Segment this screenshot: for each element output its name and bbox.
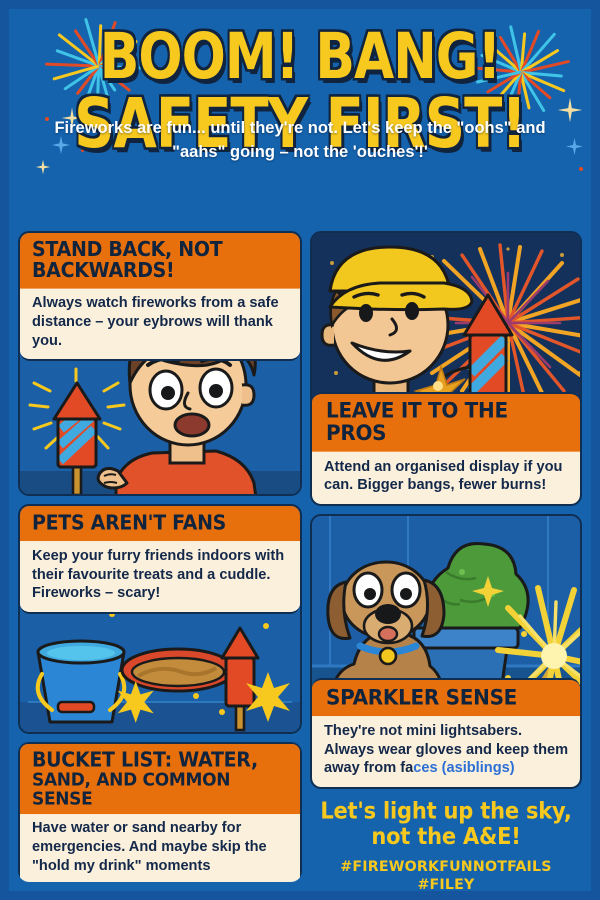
panel-grid: STAND BACK, NOT BACKWARDS! Always watch … xyxy=(18,231,582,882)
panel-pets-caption: PETS AREN'T FANS Keep your furry friends… xyxy=(20,506,300,614)
panel-stand-back-heading: STAND BACK, NOT BACKWARDS! xyxy=(20,233,300,289)
poster-subtitle: Fireworks are fun... until they're not. … xyxy=(9,117,591,165)
panel-stand-back-caption: STAND BACK, NOT BACKWARDS! Always watch … xyxy=(20,233,300,361)
footer-hashtags-line2: GOESBOOMSAFELY #SPARKLESMART xyxy=(310,894,582,900)
footer-hashtags: #FIREWORKFUNNOTFAILS #FILEY GOESBOOMSAFE… xyxy=(310,859,582,900)
panel-stand-back[interactable]: STAND BACK, NOT BACKWARDS! Always watch … xyxy=(18,231,302,496)
left-column: STAND BACK, NOT BACKWARDS! Always watch … xyxy=(18,231,302,882)
footer-hashtags-line1: #FIREWORKFUNNOTFAILS #FILEY xyxy=(310,859,582,894)
poster-footer: Let's light up the sky, not the A&E! #FI… xyxy=(310,797,582,882)
panel-bucket-list-heading: BUCKET LIST: WATER, SAND, AND COMMON SEN… xyxy=(20,742,300,814)
panel-bucket-list-body: Have water or sand nearby for emergencie… xyxy=(20,812,300,882)
footer-slogan-line2: not the A&E! xyxy=(320,824,571,849)
panel-bucket-list-heading-line1: BUCKET LIST: WATER, xyxy=(32,749,290,770)
sparkler-body-part2: ces (asiblings) xyxy=(413,760,514,776)
panel-leave-to-pros[interactable]: LEAVE IT TO THE PROS Attend an organised… xyxy=(310,231,582,506)
right-column: LEAVE IT TO THE PROS Attend an organised… xyxy=(310,231,582,882)
panel-sparkler-sense-caption: SPARKLER SENSE They're not mini lightsab… xyxy=(312,678,580,787)
footer-slogan-line1: Let's light up the sky, xyxy=(320,798,571,823)
panel-sparkler-sense-body: They're not mini lightsabers. Always wea… xyxy=(312,715,580,787)
panel-sparkler-sense[interactable]: SPARKLER SENSE They're not mini lightsab… xyxy=(310,514,582,789)
poster-header: BOOM! BANG! SAFETY FIRST! Fireworks are … xyxy=(9,9,591,169)
poster-root: BOOM! BANG! SAFETY FIRST! Fireworks are … xyxy=(0,0,600,900)
panel-stand-back-body: Always watch fireworks from a safe dista… xyxy=(20,287,300,359)
footer-slogan: Let's light up the sky, not the A&E! xyxy=(320,798,571,849)
panel-pets-heading: PETS AREN'T FANS xyxy=(20,506,300,541)
sparkle-dot-icon xyxy=(579,167,583,171)
panel-leave-to-pros-body: Attend an organised display if you can. … xyxy=(312,451,580,504)
panel-pets-body: Keep your furry friends indoors with the… xyxy=(20,540,300,612)
panel-bucket-list-heading-line2: SAND, AND COMMON SENSE xyxy=(32,771,290,809)
panel-pets[interactable]: PETS AREN'T FANS Keep your furry friends… xyxy=(18,504,302,734)
panel-leave-to-pros-caption: LEAVE IT TO THE PROS Attend an organised… xyxy=(312,392,580,504)
panel-bucket-list-caption: BUCKET LIST: WATER, SAND, AND COMMON SEN… xyxy=(18,742,302,882)
panel-leave-to-pros-heading: LEAVE IT TO THE PROS xyxy=(312,393,580,453)
panel-sparkler-sense-heading: SPARKLER SENSE xyxy=(312,679,580,716)
panel-bucket-list[interactable]: BUCKET LIST: WATER, SAND, AND COMMON SEN… xyxy=(18,742,302,882)
